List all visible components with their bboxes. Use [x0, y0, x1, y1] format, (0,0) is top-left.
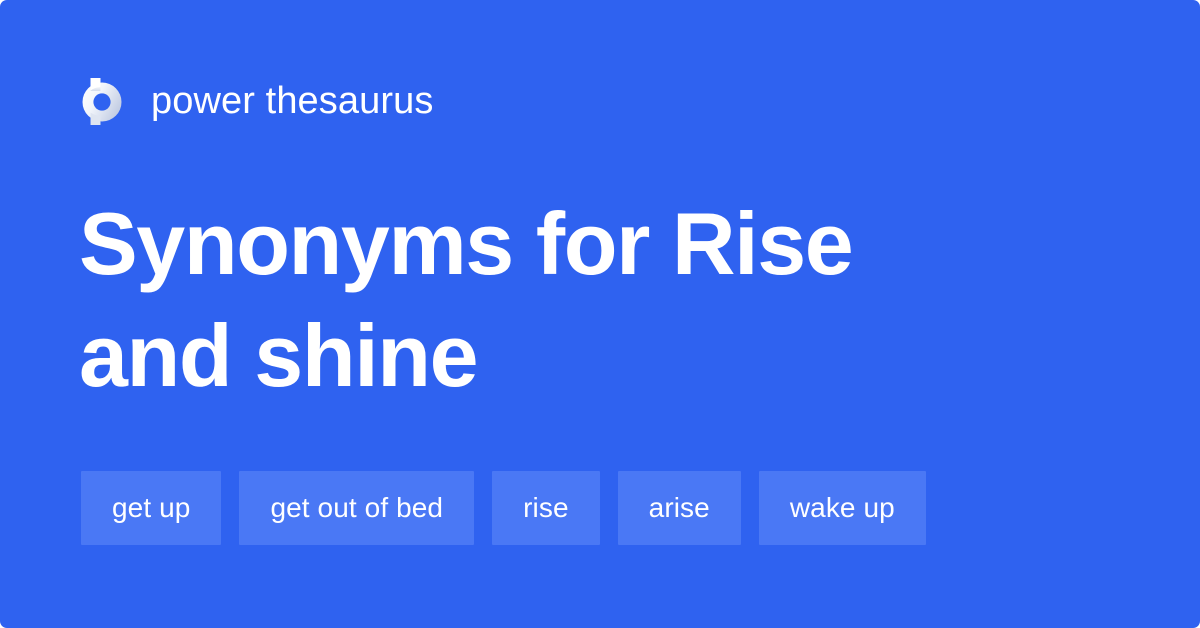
- synonym-chip[interactable]: wake up: [759, 471, 926, 545]
- synonym-chip[interactable]: rise: [492, 471, 600, 545]
- synonym-chip-list: get up get out of bed rise arise wake up: [81, 471, 926, 545]
- power-thesaurus-b-logo-icon: [81, 78, 123, 125]
- synonym-chip[interactable]: get out of bed: [239, 471, 474, 545]
- synonym-chip[interactable]: arise: [618, 471, 741, 545]
- page-title: Synonyms for Rise and shine: [79, 188, 1009, 412]
- brand-header[interactable]: power thesaurus: [81, 74, 433, 128]
- brand-name: power thesaurus: [151, 82, 433, 120]
- synonym-chip[interactable]: get up: [81, 471, 221, 545]
- og-card: power thesaurus Synonyms for Rise and sh…: [0, 0, 1200, 628]
